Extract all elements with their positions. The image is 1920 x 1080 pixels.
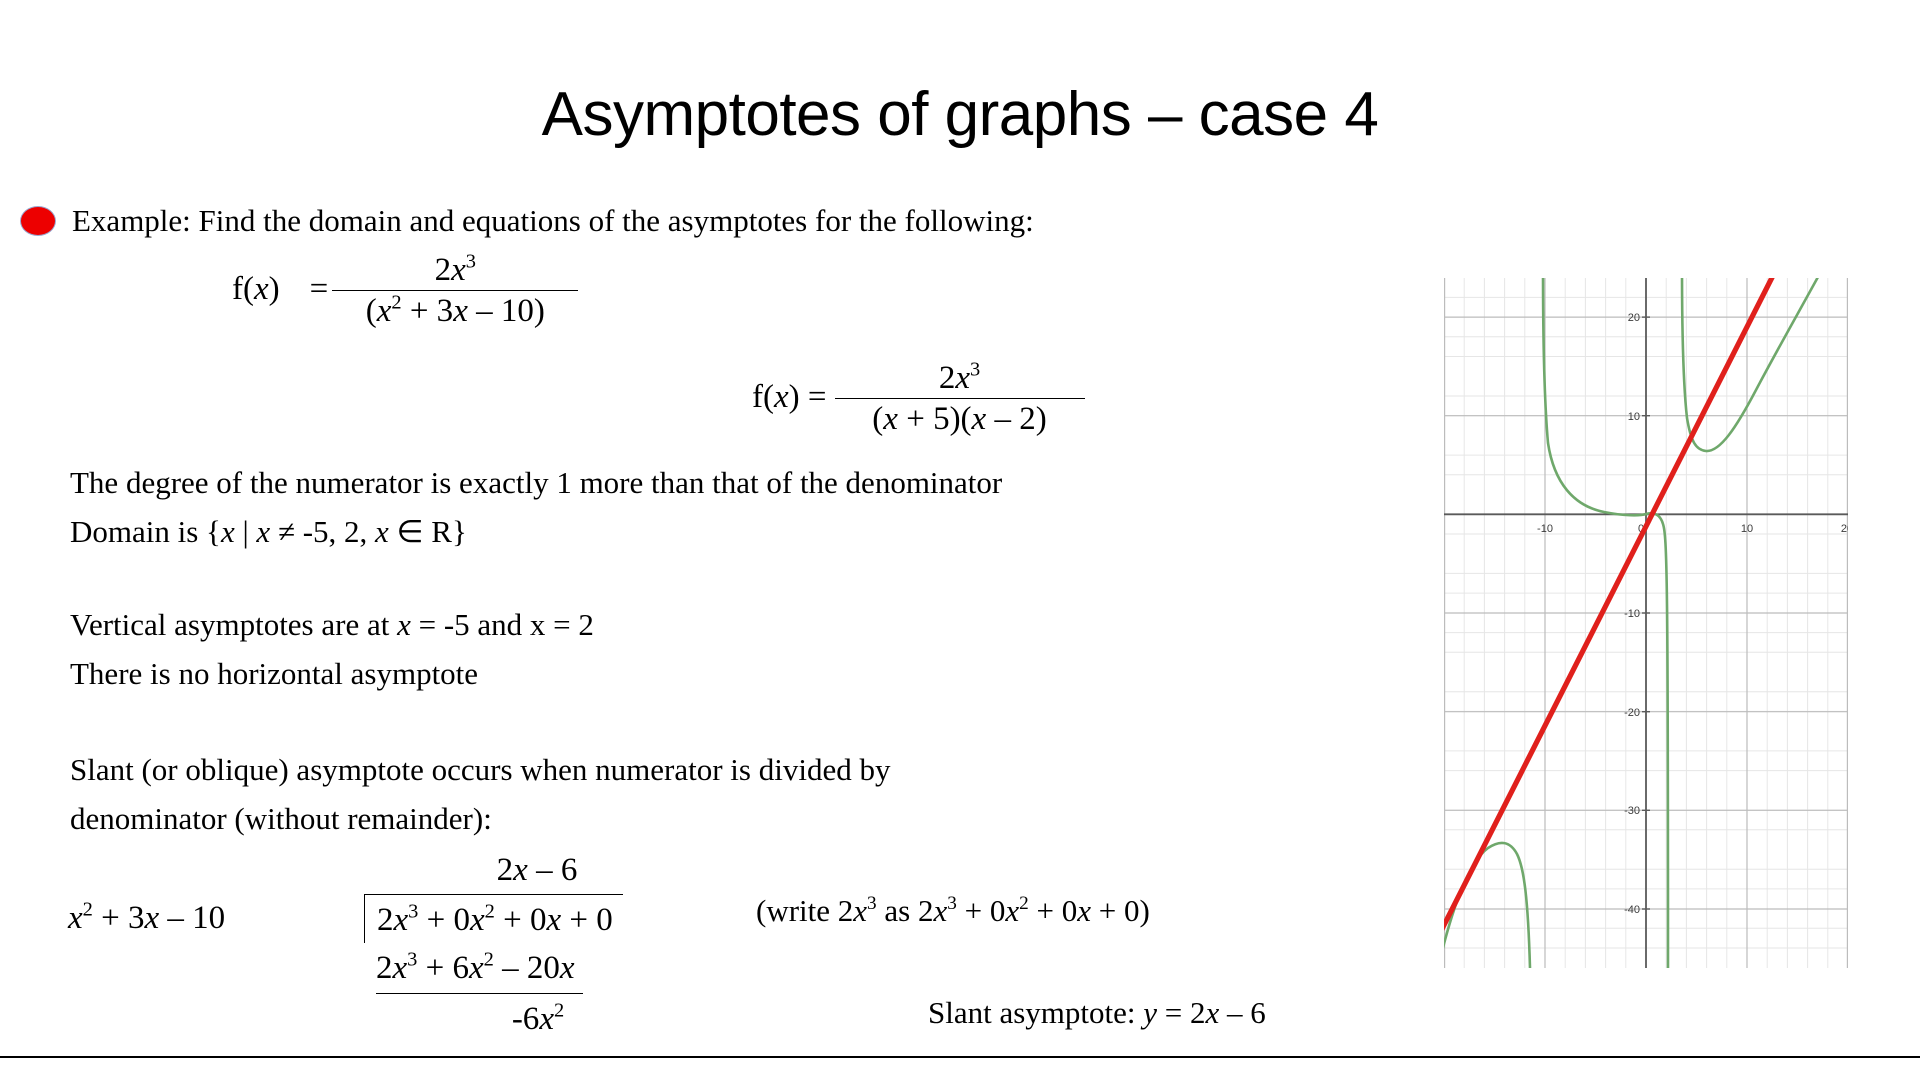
slide-body: Example: Find the domain and equations o… — [0, 196, 1460, 245]
page-title: Asymptotes of graphs – case 4 — [0, 78, 1920, 152]
ytick-minus20: -20 — [1624, 707, 1640, 719]
equation-one-numerator: 2x3 — [332, 252, 578, 290]
note-write-expansion: (write 2x3 as 2x3 + 0x2 + 0x + 0) — [756, 893, 1150, 929]
equation-f-of-x-factored: f(x) = 2x3 (x + 5)(x – 2) — [752, 360, 1085, 438]
ytick-20: 20 — [1628, 312, 1640, 324]
asymptote-graph: -10 0 10 20 20 10 -10 -20 -30 -40 — [1444, 278, 1848, 968]
long-division-remainder: -6x2 — [428, 996, 648, 1042]
ytick-minus10: -10 — [1624, 608, 1640, 620]
statement-domain: Domain is {x | x ≠ -5, 2, x ∈ R} — [70, 507, 467, 556]
statement-slant-line-1: Slant (or oblique) asymptote occurs when… — [70, 745, 890, 794]
equation-one-equals: = — [310, 271, 329, 307]
equation-two-fraction: 2x3 (x + 5)(x – 2) — [835, 360, 1085, 438]
equation-one-denominator: (x2 + 3x – 10) — [332, 290, 578, 330]
note-slant-asymptote: Slant asymptote: y = 2x – 6 — [928, 995, 1266, 1031]
long-division-quotient: 2x – 6 — [368, 848, 706, 892]
long-division-divisor: x2 + 3x – 10 — [68, 894, 225, 942]
bullet-item-label: Example: Find the domain and equations o… — [72, 203, 1034, 238]
equation-one-lhs: f(x) — [232, 271, 280, 307]
bullet-item-example: Example: Find the domain and equations o… — [0, 196, 1460, 245]
xtick-minus10: -10 — [1537, 523, 1553, 535]
statement-degree: The degree of the numerator is exactly 1… — [70, 458, 1002, 507]
xtick-10: 10 — [1741, 523, 1753, 535]
long-division-dividend: 2x3 + 0x2 + 0x + 0 — [364, 894, 623, 943]
slide-bottom-divider — [0, 1056, 1920, 1058]
ytick-minus30: -30 — [1624, 805, 1640, 817]
equation-one-fraction: 2x3 (x2 + 3x – 10) — [332, 252, 578, 330]
equation-f-of-x-original: f(x)= 2x3 (x2 + 3x – 10) — [232, 252, 578, 330]
statement-slant-line-2: denominator (without remainder): — [70, 794, 492, 843]
statement-horizontal-asymptote: There is no horizontal asymptote — [70, 649, 478, 698]
ytick-10: 10 — [1628, 411, 1640, 423]
equation-two-denominator: (x + 5)(x – 2) — [835, 398, 1085, 438]
statement-vertical-asymptotes: Vertical asymptotes are at x = -5 and x … — [70, 600, 594, 649]
xtick-20: 20 — [1841, 523, 1848, 535]
equation-two-numerator: 2x3 — [835, 360, 1085, 398]
graph-svg: -10 0 10 20 20 10 -10 -20 -30 -40 — [1444, 278, 1848, 968]
long-division-subtrahend: 2x3 + 6x2 – 20x — [376, 945, 583, 994]
equation-two-lhs: f(x) = — [752, 379, 827, 415]
ytick-minus40: -40 — [1624, 904, 1640, 916]
red-circle-bullet-icon — [20, 206, 56, 236]
